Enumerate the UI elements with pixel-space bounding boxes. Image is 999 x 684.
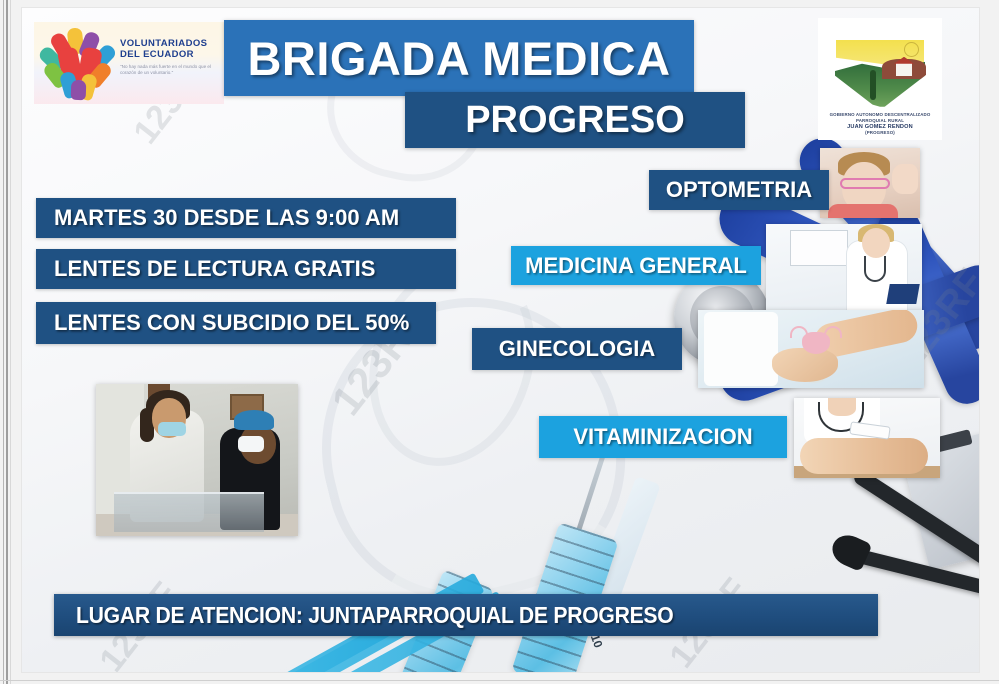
voluntariados-logo-tagline: "No hay nada más fuerte en el mundo que … bbox=[120, 64, 216, 77]
crest-church bbox=[896, 63, 912, 76]
crest-sun bbox=[904, 42, 919, 57]
photo-gynecology bbox=[698, 310, 924, 388]
crest-plant bbox=[870, 70, 876, 100]
photo-clinic-consultation bbox=[96, 384, 298, 536]
info-bar-free-glasses: LENTES DE LECTURA GRATIS bbox=[36, 249, 456, 289]
location-banner: LUGAR DE ATENCION: JUNTAPARROQUIAL DE PR… bbox=[54, 594, 878, 636]
coat-of-arms-icon bbox=[828, 22, 932, 114]
page-title: BRIGADA MEDICA bbox=[224, 31, 694, 86]
service-label-optometria: OPTOMETRIA bbox=[649, 170, 829, 210]
voluntariados-logo: VOLUNTARIADOS DEL ECUADOR "No hay nada m… bbox=[34, 22, 224, 104]
crest-caption: GOBIERNO AUTONOMO DESCENTRALIZADO PARROQ… bbox=[818, 112, 942, 136]
voluntariados-logo-name: VOLUNTARIADOS DEL ECUADOR bbox=[120, 38, 207, 60]
frame-edge-line bbox=[3, 0, 4, 684]
heart-of-hands-icon bbox=[42, 28, 116, 98]
location-banner-text: LUGAR DE ATENCION: JUNTAPARROQUIAL DE PR… bbox=[76, 602, 673, 629]
frame-edge-line bbox=[0, 680, 999, 681]
poster-title-banner: BRIGADA MEDICA bbox=[224, 20, 694, 96]
service-label-medicina-general: MEDICINA GENERAL bbox=[511, 246, 761, 285]
page-subtitle: PROGRESO bbox=[405, 99, 745, 142]
gad-parroquial-crest: GOBIERNO AUTONOMO DESCENTRALIZADO PARROQ… bbox=[818, 18, 942, 140]
service-label-vitaminizacion: VITAMINIZACION bbox=[539, 416, 787, 458]
info-bar-date: MARTES 30 DESDE LAS 9:00 AM bbox=[36, 198, 456, 238]
poster-subtitle-banner: PROGRESO bbox=[405, 92, 745, 148]
photo-general-medicine-doctor bbox=[766, 224, 922, 312]
photo-vitamin-injection bbox=[794, 398, 940, 478]
photo-optometry-child bbox=[820, 148, 920, 218]
poster-frame: 10 123RF 123RF 123RF 123RF 123RF bbox=[0, 0, 999, 684]
service-label-ginecologia: GINECOLOGIA bbox=[472, 328, 682, 370]
info-bar-subsidized-glasses: LENTES CON SUBCIDIO DEL 50% bbox=[36, 302, 436, 344]
shield-shape bbox=[828, 22, 932, 114]
poster-canvas: 10 123RF 123RF 123RF 123RF 123RF bbox=[22, 8, 979, 672]
frame-edge-line bbox=[10, 0, 11, 684]
frame-edge-line bbox=[6, 0, 8, 684]
